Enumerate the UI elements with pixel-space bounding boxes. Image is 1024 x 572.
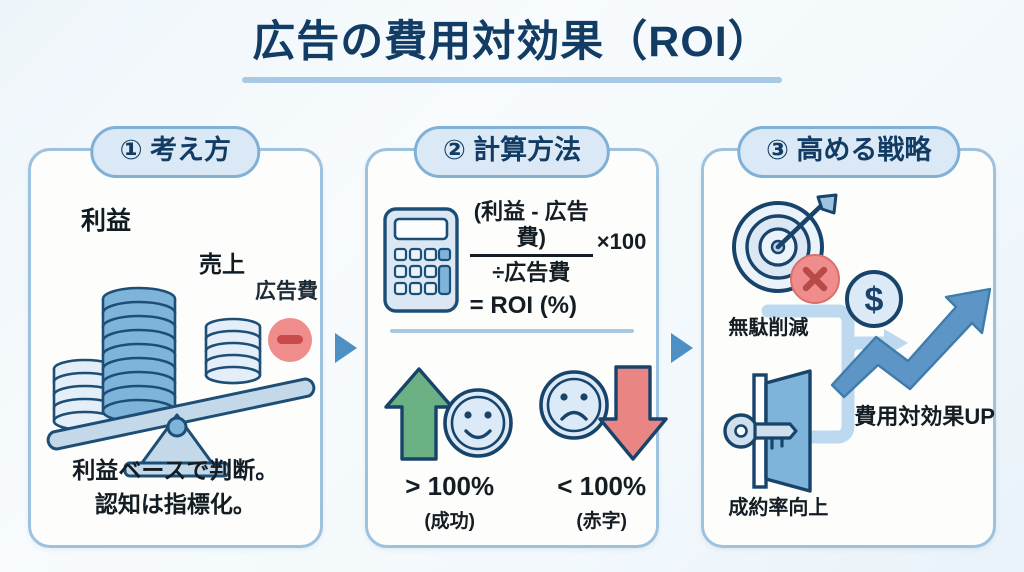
outcome-success-value: > 100% [405,471,494,502]
outcome-deficit-icons [526,357,678,469]
panel-calculation: ② 計算方法 [365,148,660,548]
roi-formula: (利益 - 広告費) ÷広告費 ×100 = ROI (%) [470,199,647,321]
formula-denominator: ÷広告費 [470,254,593,286]
panel-concept: ① 考え方 利益 売上 広告費 [28,148,323,548]
formula-row: (利益 - 広告費) ÷広告費 ×100 = ROI (%) [382,199,647,321]
outcome-success-icons [374,357,526,469]
door-key-icon [724,369,844,493]
strategy-label-waste-reduction: 無駄削減 [728,311,808,340]
coin-stack-profit-tall [103,288,175,422]
formula-multiplier: ×100 [597,229,647,255]
outcome-deficit-note: (赤字) [576,506,627,533]
minus-badge-icon [268,318,312,362]
outcome-deficit-value: < 100% [557,471,646,502]
panel-calculation-body: (利益 - 広告費) ÷広告費 ×100 = ROI (%) [368,151,657,545]
panel-strategy: ③ 高める戦略 無駄削減 [701,148,996,548]
rising-zigzag-arrow-icon: $ [830,263,1010,393]
strategy-label-conversion-rate: 成約率向上 [728,491,828,520]
panel-strategy-body: 無駄削減 成約率向上 $ 費用対 [704,151,993,545]
outcome-success-note: (成功) [424,506,475,533]
caption-line-1: 利益ベースで判断。 [31,454,320,487]
smiley-face-icon [445,390,511,456]
seesaw-illustration [37,227,337,477]
panel-divider-horizontal [390,329,635,333]
panel-concept-body: 利益 売上 広告費 [31,151,320,545]
calculator-icon [382,206,460,314]
title-underline [242,77,782,83]
outcome-deficit: < 100% (赤字) [526,347,678,533]
panel-concept-caption: 利益ベースで判断。 認知は指標化。 [31,454,320,521]
right-triangle-arrow-icon [335,333,357,363]
down-arrow-red-icon [600,367,666,459]
dollar-coin-icon: $ [847,272,901,326]
outcome-success: > 100% (成功) [374,347,526,533]
sad-face-icon [541,372,607,438]
panels-row: ① 考え方 利益 売上 広告費 [28,148,996,548]
coin-stack-sales [206,319,260,383]
svg-text:$: $ [865,281,884,319]
up-arrow-green-icon [386,369,452,459]
formula-result: = ROI (%) [470,292,647,321]
caption-line-2: 認知は指標化。 [31,488,320,521]
formula-numerator: (利益 - 広告費) [470,199,593,254]
target-arrow-icon [726,195,846,311]
strategy-result-label: 費用対効果UP [854,399,995,431]
outcomes-row: > 100% (成功) [374,347,651,533]
page-title: 広告の費用対効果（ROI） [0,18,1024,67]
title-block: 広告の費用対効果（ROI） [0,18,1024,83]
